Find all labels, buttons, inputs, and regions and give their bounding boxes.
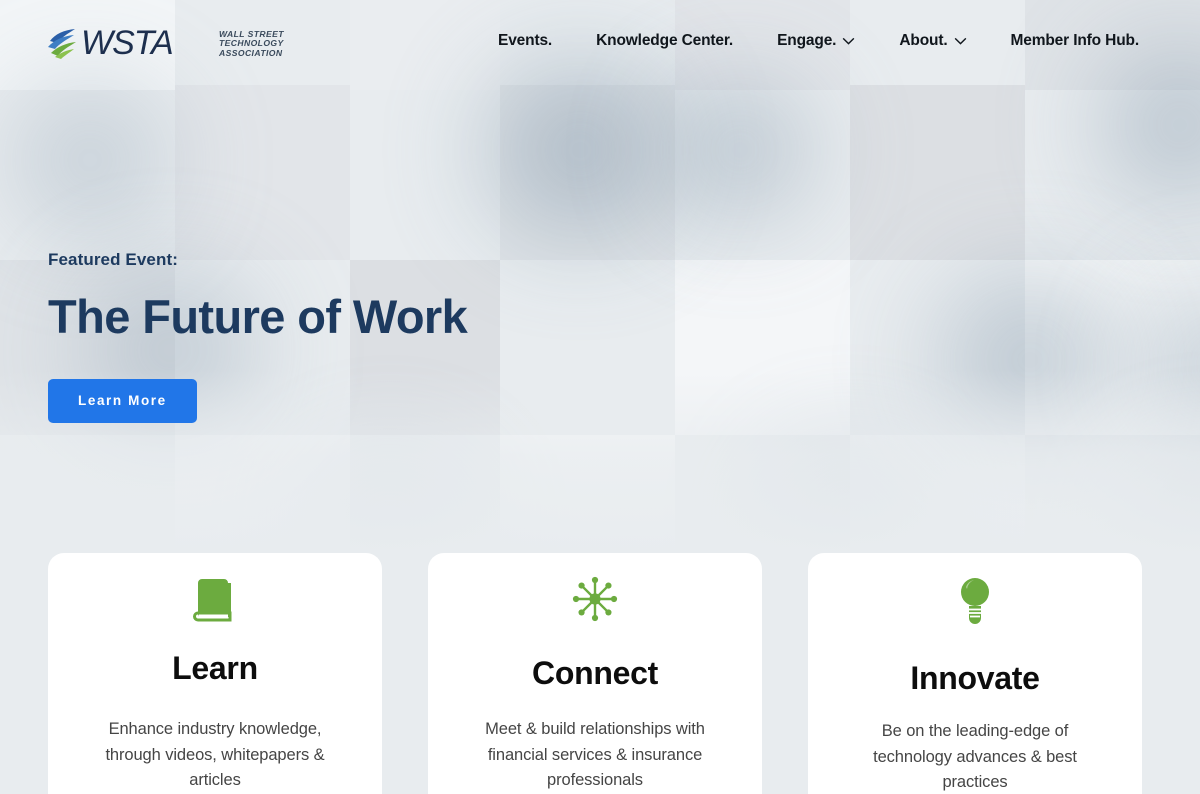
card-title: Innovate [910,660,1039,697]
nav-item-about[interactable]: About. [899,32,966,50]
nav-item-events[interactable]: Events. [498,32,552,50]
card-icon-wrapper [189,571,241,628]
main-navigation: Events.Knowledge Center.Engage.About.Mem… [498,32,1139,50]
logo[interactable]: WSTA WALL STREET TECHNOLOGY ASSOCIATION [48,23,284,63]
nav-item-member-info-hub[interactable]: Member Info Hub. [1011,32,1140,50]
site-header: WSTA WALL STREET TECHNOLOGY ASSOCIATION … [0,0,1200,86]
learn-more-button[interactable]: Learn More [48,379,197,423]
nav-item-knowledge-center[interactable]: Knowledge Center. [596,32,733,50]
logo-tagline: WALL STREET TECHNOLOGY ASSOCIATION [219,28,284,59]
hero-content: Featured Event: The Future of Work Learn… [48,250,467,423]
nav-item-label: Member Info Hub. [1011,32,1140,50]
featured-event-label: Featured Event: [48,250,467,270]
wsta-swoosh-icon [48,26,78,60]
nav-item-label: About. [899,32,947,50]
chevron-down-icon[interactable] [842,37,855,45]
nav-item-label: Knowledge Center. [596,32,733,50]
feature-card-connect[interactable]: ConnectMeet & build relationships with f… [428,553,762,794]
card-description: Be on the leading-edge of technology adv… [841,719,1109,794]
nav-item-engage[interactable]: Engage. [777,32,855,50]
feature-cards: LearnEnhance industry knowledge, through… [48,553,1142,794]
lightbulb-icon [949,571,1001,627]
card-description: Meet & build relationships with financia… [461,717,729,794]
nav-item-label: Engage. [777,32,836,50]
wsta-wordmark: WSTA [81,23,213,63]
page-title: The Future of Work [48,292,467,341]
nav-item-label: Events. [498,32,552,50]
feature-card-learn[interactable]: LearnEnhance industry knowledge, through… [48,553,382,794]
card-icon-wrapper [949,571,1001,627]
feature-card-innovate[interactable]: InnovateBe on the leading-edge of techno… [808,553,1142,794]
chevron-down-icon[interactable] [954,37,967,45]
card-title: Connect [532,655,658,692]
card-icon-wrapper [569,571,621,627]
svg-text:WSTA: WSTA [81,24,173,62]
book-icon [189,572,241,628]
card-title: Learn [172,650,258,687]
network-hub-icon [569,571,621,627]
card-description: Enhance industry knowledge, through vide… [81,717,349,794]
